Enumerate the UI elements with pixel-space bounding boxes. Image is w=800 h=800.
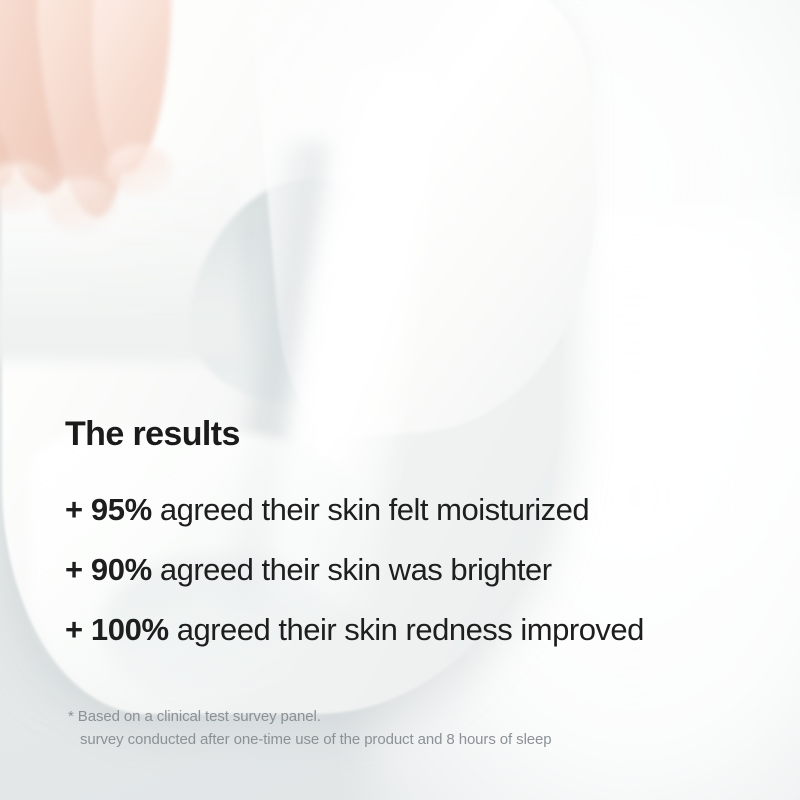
result-value-moisturized: + 95% bbox=[65, 492, 152, 527]
result-value-redness: + 100% bbox=[65, 612, 169, 647]
text-overlay: The results + 95% agreed their skin felt… bbox=[0, 0, 800, 800]
disclaimer: * Based on a clinical test survey panel.… bbox=[68, 705, 552, 752]
result-text-redness: agreed their skin redness improved bbox=[169, 612, 644, 647]
disclaimer-line-1: * Based on a clinical test survey panel. bbox=[68, 705, 552, 728]
result-text-moisturized: agreed their skin felt moisturized bbox=[152, 492, 589, 527]
page-title: The results bbox=[65, 417, 240, 451]
result-item-moisturized: + 95% agreed their skin felt moisturized bbox=[65, 494, 765, 525]
results-list: + 95% agreed their skin felt moisturized… bbox=[65, 494, 765, 645]
result-item-brighter: + 90% agreed their skin was brighter bbox=[65, 554, 765, 585]
result-item-redness: + 100% agreed their skin redness improve… bbox=[65, 614, 765, 645]
marketing-graphic: The results + 95% agreed their skin felt… bbox=[0, 0, 800, 800]
result-value-brighter: + 90% bbox=[65, 552, 152, 587]
disclaimer-line-2: survey conducted after one-time use of t… bbox=[68, 728, 552, 751]
result-text-brighter: agreed their skin was brighter bbox=[152, 552, 552, 587]
